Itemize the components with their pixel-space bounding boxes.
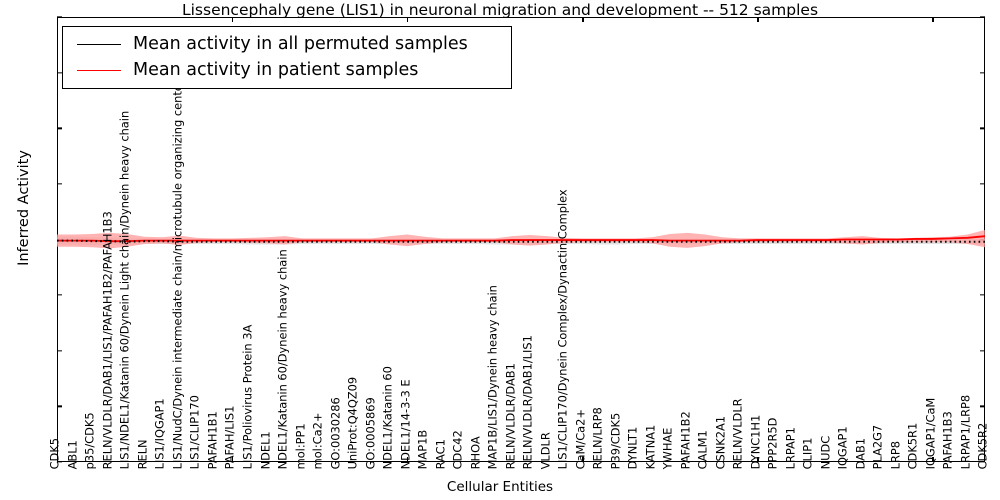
legend-item-permuted: Mean activity in all permuted samples bbox=[71, 31, 503, 57]
x-tick-label: LIS1/CLIP170 bbox=[190, 395, 201, 469]
x-tick-label: YWHAE bbox=[663, 428, 674, 470]
legend-line-swatch-patient bbox=[77, 70, 121, 71]
legend-line-swatch-permuted bbox=[77, 44, 121, 45]
x-tick-label: CDC42 bbox=[453, 430, 464, 469]
x-tick-label: RELN/VLDLR bbox=[733, 398, 744, 469]
x-tick-label: PPP2R5D bbox=[768, 418, 779, 470]
x-tick-label: CaM/Ca2+ bbox=[575, 409, 586, 469]
x-tick-label: ABL1 bbox=[68, 440, 79, 469]
x-tick-label: CDK5 bbox=[50, 438, 61, 469]
x-tick-label: mol:Ca2+ bbox=[313, 413, 324, 470]
x-tick-label: LIS1/NudC/Dynein intermediate chain/micr… bbox=[173, 80, 184, 470]
x-tick-label: IQGAP1/CaM bbox=[925, 398, 936, 470]
x-tick-label: CALM1 bbox=[698, 430, 709, 469]
x-tick-label: DYNLT1 bbox=[628, 427, 639, 470]
x-tick-label: LIS1/CLIP170/Dynein Complex/Dynactin Com… bbox=[558, 189, 569, 469]
x-tick-label: RELN/VLDLR/DAB1/LIS1 bbox=[523, 335, 534, 469]
x-tick-label: NDEL1/14-3-3 E bbox=[400, 379, 411, 469]
x-tick-label: NDEL1/Katanin 60/Dynein heavy chain bbox=[278, 249, 289, 469]
x-tick-label: LRP8 bbox=[890, 441, 901, 469]
chart-title: Lissencephaly gene (LIS1) in neuronal mi… bbox=[0, 1, 1000, 19]
y-axis-label: Inferred Activity bbox=[16, 98, 32, 318]
x-tick-label: mol:PP1 bbox=[295, 423, 306, 469]
x-tick-label: LIS1/IQGAP1 bbox=[155, 398, 166, 469]
legend-label-permuted: Mean activity in all permuted samples bbox=[133, 34, 468, 54]
legend-item-patient: Mean activity in patient samples bbox=[71, 57, 503, 83]
x-tick-label: RELN/VLDLR/DAB1 bbox=[505, 363, 516, 469]
x-tick-label: CDK5R1 bbox=[908, 423, 919, 470]
x-tick-label: CSNK2A1 bbox=[715, 416, 726, 469]
x-tick-label: RAC1 bbox=[435, 439, 446, 469]
x-tick-label: DAB1 bbox=[855, 438, 866, 469]
x-axis-label: Cellular Entities bbox=[0, 479, 1000, 495]
x-tick-label: GO:0005869 bbox=[365, 397, 376, 469]
x-tick-label: NUDC bbox=[820, 436, 831, 470]
x-tick-label: KATNA1 bbox=[645, 425, 656, 470]
x-tick-label: VLDLR bbox=[540, 432, 551, 469]
x-tick-label: MAP1B bbox=[418, 430, 429, 470]
x-tick-label: DYNC1H1 bbox=[750, 415, 761, 470]
x-tick-label: PAFAH1B3 bbox=[943, 411, 954, 469]
x-tick-label: LIS1/Poliovirus Protein 3A bbox=[243, 325, 254, 470]
legend-label-patient: Mean activity in patient samples bbox=[133, 60, 418, 80]
chart-legend: Mean activity in all permuted samples Me… bbox=[62, 26, 512, 89]
chart-figure: Lissencephaly gene (LIS1) in neuronal mi… bbox=[0, 0, 1000, 500]
x-tick-label: GO:0030286 bbox=[330, 397, 341, 469]
x-tick-label: UniProt:Q4QZ09 bbox=[348, 377, 359, 470]
x-tick-label: PLA2G7 bbox=[873, 425, 884, 470]
x-tick-label: p35/CDK5 bbox=[85, 412, 96, 469]
x-tick-label: LRPAP1 bbox=[785, 427, 796, 469]
x-tick-label: RELN bbox=[138, 439, 149, 469]
x-tick-label: RELN/VLDLR/DAB1/LIS1/PAFAH1B2/PAFAH1B3 bbox=[103, 211, 114, 469]
x-tick-label: RELN/LRP8 bbox=[593, 407, 604, 469]
x-tick-label: CLIP1 bbox=[803, 438, 814, 470]
x-tick-label: NDEL1 bbox=[260, 431, 271, 469]
x-tick-label: LRPAP1/LRP8 bbox=[960, 395, 971, 470]
x-tick-label: PAFAH/LIS1 bbox=[225, 406, 236, 470]
x-tick-label: RHOA bbox=[470, 436, 481, 469]
x-tick-label: IQGAP1 bbox=[838, 426, 849, 469]
x-tick-label: MAP1B/LIS1/Dynein heavy chain bbox=[488, 285, 499, 469]
x-tick-label: P39/CDK5 bbox=[610, 413, 621, 470]
x-tick-label: PAFAH1B2 bbox=[680, 411, 691, 469]
x-tick-label: PAFAH1B1 bbox=[208, 411, 219, 469]
x-tick-label: NDEL1/Katanin 60 bbox=[383, 366, 394, 469]
x-tick-label: CDK5R2 bbox=[978, 423, 989, 470]
x-tick-label: LIS1/NDEL1/Katanin 60/Dynein Light chain… bbox=[120, 111, 131, 470]
